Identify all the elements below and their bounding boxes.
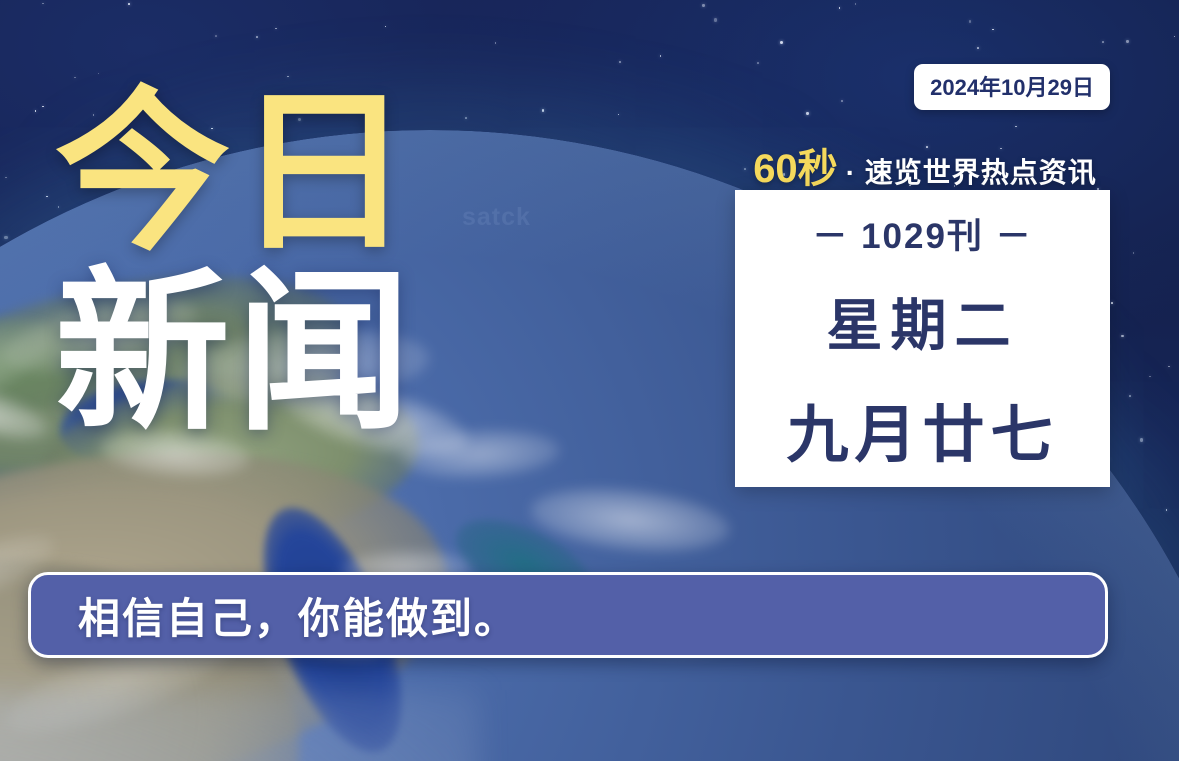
star	[256, 36, 258, 38]
tagline-rest: · 速览世界热点资讯	[846, 151, 1097, 191]
star	[841, 100, 843, 102]
star	[806, 112, 808, 114]
star	[839, 7, 841, 9]
star	[1126, 40, 1128, 42]
star	[1121, 335, 1123, 337]
star	[619, 61, 621, 63]
star	[275, 28, 277, 30]
tagline-highlight: 60秒	[753, 136, 838, 194]
star	[42, 3, 44, 5]
star	[660, 55, 662, 57]
issue-info-card: － 1029刊 － 星期二 九月廿七	[735, 190, 1110, 487]
star	[1111, 302, 1113, 304]
star	[618, 114, 620, 116]
star	[1140, 438, 1143, 441]
lunar-date-label: 九月廿七	[786, 384, 1058, 474]
page-title-line-2: 新闻	[55, 268, 417, 440]
poster-title: 今日 新闻	[55, 88, 417, 439]
star	[495, 42, 497, 44]
quote-banner: 相信自己，你能做到。	[28, 572, 1108, 658]
star	[35, 110, 37, 112]
star	[757, 62, 759, 64]
star	[969, 20, 971, 22]
news-poster-canvas: satck 今日 新闻 2024年10月29日 60秒 · 速览世界热点资讯 －…	[0, 0, 1179, 761]
star	[702, 4, 704, 6]
star	[5, 177, 7, 179]
star	[1166, 509, 1168, 511]
star	[1015, 126, 1017, 128]
background-watermark: satck	[462, 203, 531, 232]
star	[1102, 41, 1104, 43]
weekday-label: 星期二	[827, 281, 1019, 362]
star	[42, 106, 44, 108]
star	[1129, 395, 1131, 397]
star	[1168, 366, 1170, 368]
star	[1133, 252, 1135, 254]
star	[542, 109, 544, 111]
star	[1149, 376, 1151, 378]
star	[977, 47, 979, 49]
star	[780, 41, 783, 44]
star	[992, 29, 994, 31]
star	[215, 35, 217, 37]
star	[1174, 36, 1176, 38]
issue-number: － 1029刊 －	[812, 208, 1032, 259]
page-title-line-1: 今日	[55, 88, 417, 260]
star	[714, 18, 717, 21]
date-badge: 2024年10月29日	[914, 64, 1110, 110]
quote-text: 相信自己，你能做到。	[78, 585, 518, 646]
star	[465, 117, 467, 119]
star	[385, 26, 387, 28]
star	[855, 3, 857, 5]
star	[128, 3, 130, 5]
tagline: 60秒 · 速览世界热点资讯	[735, 136, 1115, 194]
